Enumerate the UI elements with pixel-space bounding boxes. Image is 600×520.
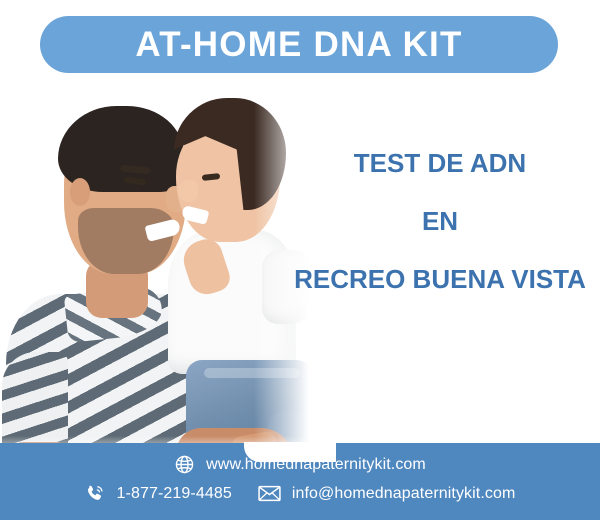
- man-ear: [70, 178, 90, 206]
- phone-icon: [85, 483, 106, 504]
- email-contact-item[interactable]: info@homednapaternitykit.com: [258, 483, 516, 504]
- headline-line-3: RECREO BUENA VISTA: [290, 266, 590, 292]
- photo-background: [0, 82, 330, 462]
- page-title: AT-HOME DNA KIT: [135, 27, 462, 62]
- header-banner: AT-HOME DNA KIT: [40, 16, 558, 73]
- headline-line-2: EN: [290, 208, 590, 234]
- footer-phone-email-row: 1-877-219-4485 info@homednapaternitykit.…: [0, 483, 600, 504]
- globe-icon: [174, 454, 195, 475]
- website-contact-item[interactable]: www.homednapaternitykit.com: [174, 454, 426, 475]
- email-label: info@homednapaternitykit.com: [292, 485, 516, 503]
- footer-website-row: www.homednapaternitykit.com: [0, 454, 600, 475]
- phone-contact-item[interactable]: 1-877-219-4485: [85, 483, 232, 504]
- contact-footer: www.homednapaternitykit.com 1-877-219-44…: [0, 443, 600, 520]
- envelope-icon: [258, 483, 281, 504]
- phone-label: 1-877-219-4485: [117, 485, 232, 503]
- father-and-child-photo: [0, 82, 330, 462]
- website-label: www.homednapaternitykit.com: [206, 456, 426, 474]
- headline-block: TEST DE ADN EN RECREO BUENA VISTA: [290, 150, 590, 292]
- headline-line-1: TEST DE ADN: [290, 150, 590, 176]
- man-beard: [78, 208, 174, 274]
- poster-canvas: AT-HOME DNA KIT: [0, 0, 600, 520]
- child-nose: [178, 180, 198, 202]
